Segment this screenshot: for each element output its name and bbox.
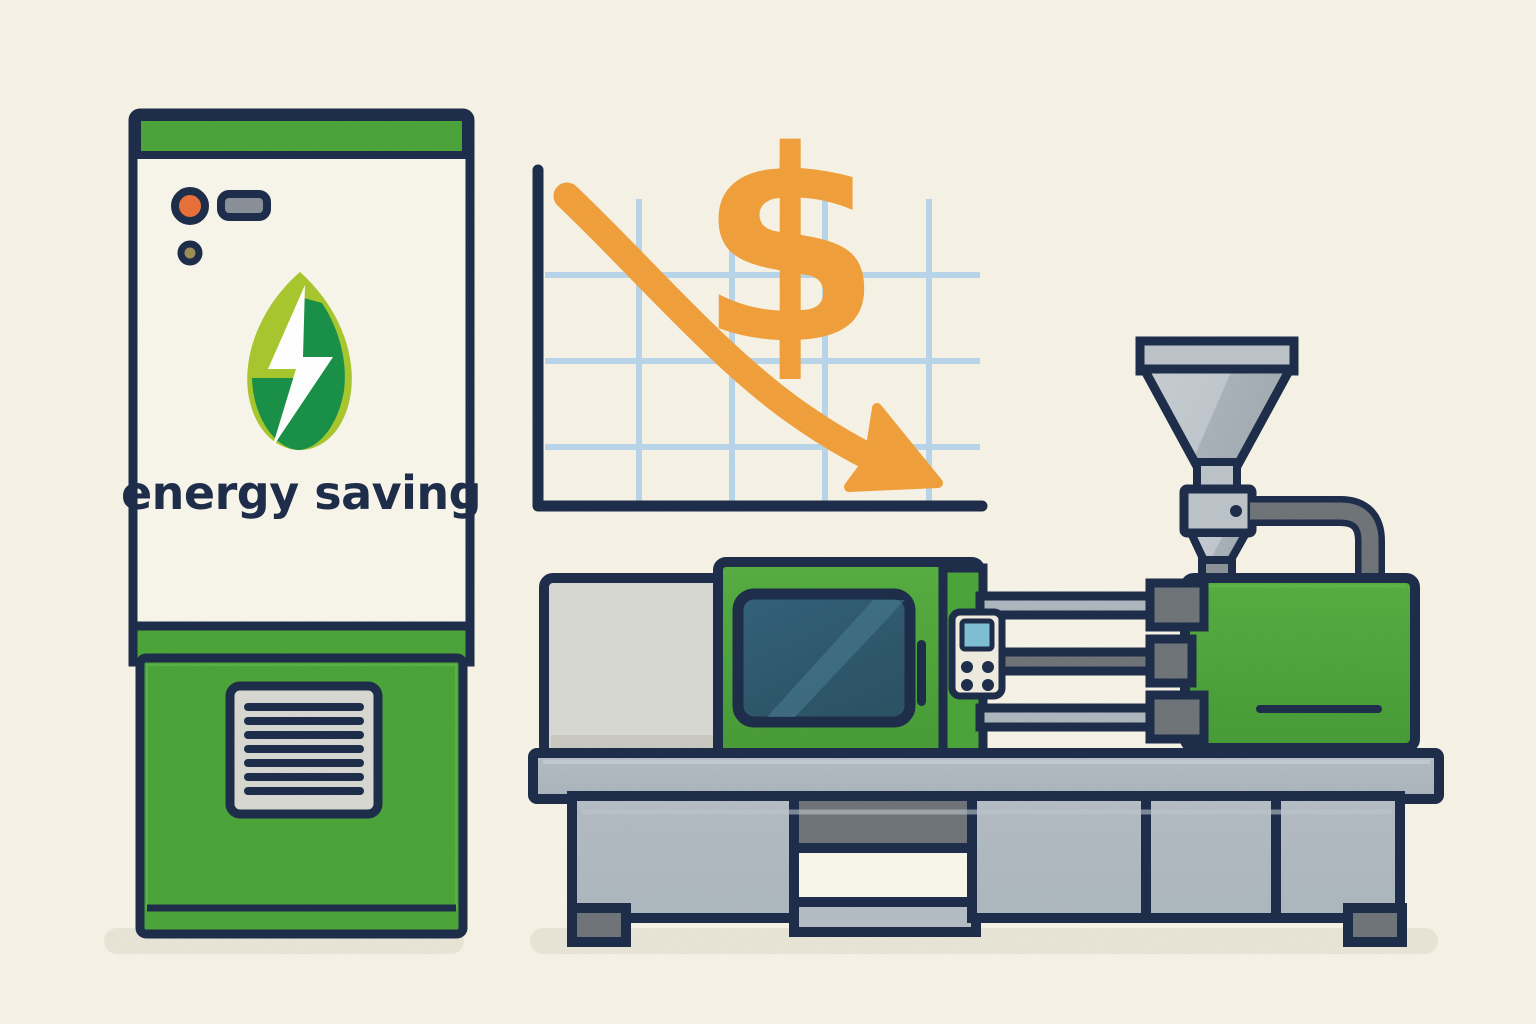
scene-vector: energy saving — [0, 0, 1536, 1024]
paper-grain-overlay — [0, 0, 1536, 1024]
illustration-canvas: energy saving — [0, 0, 1536, 1024]
